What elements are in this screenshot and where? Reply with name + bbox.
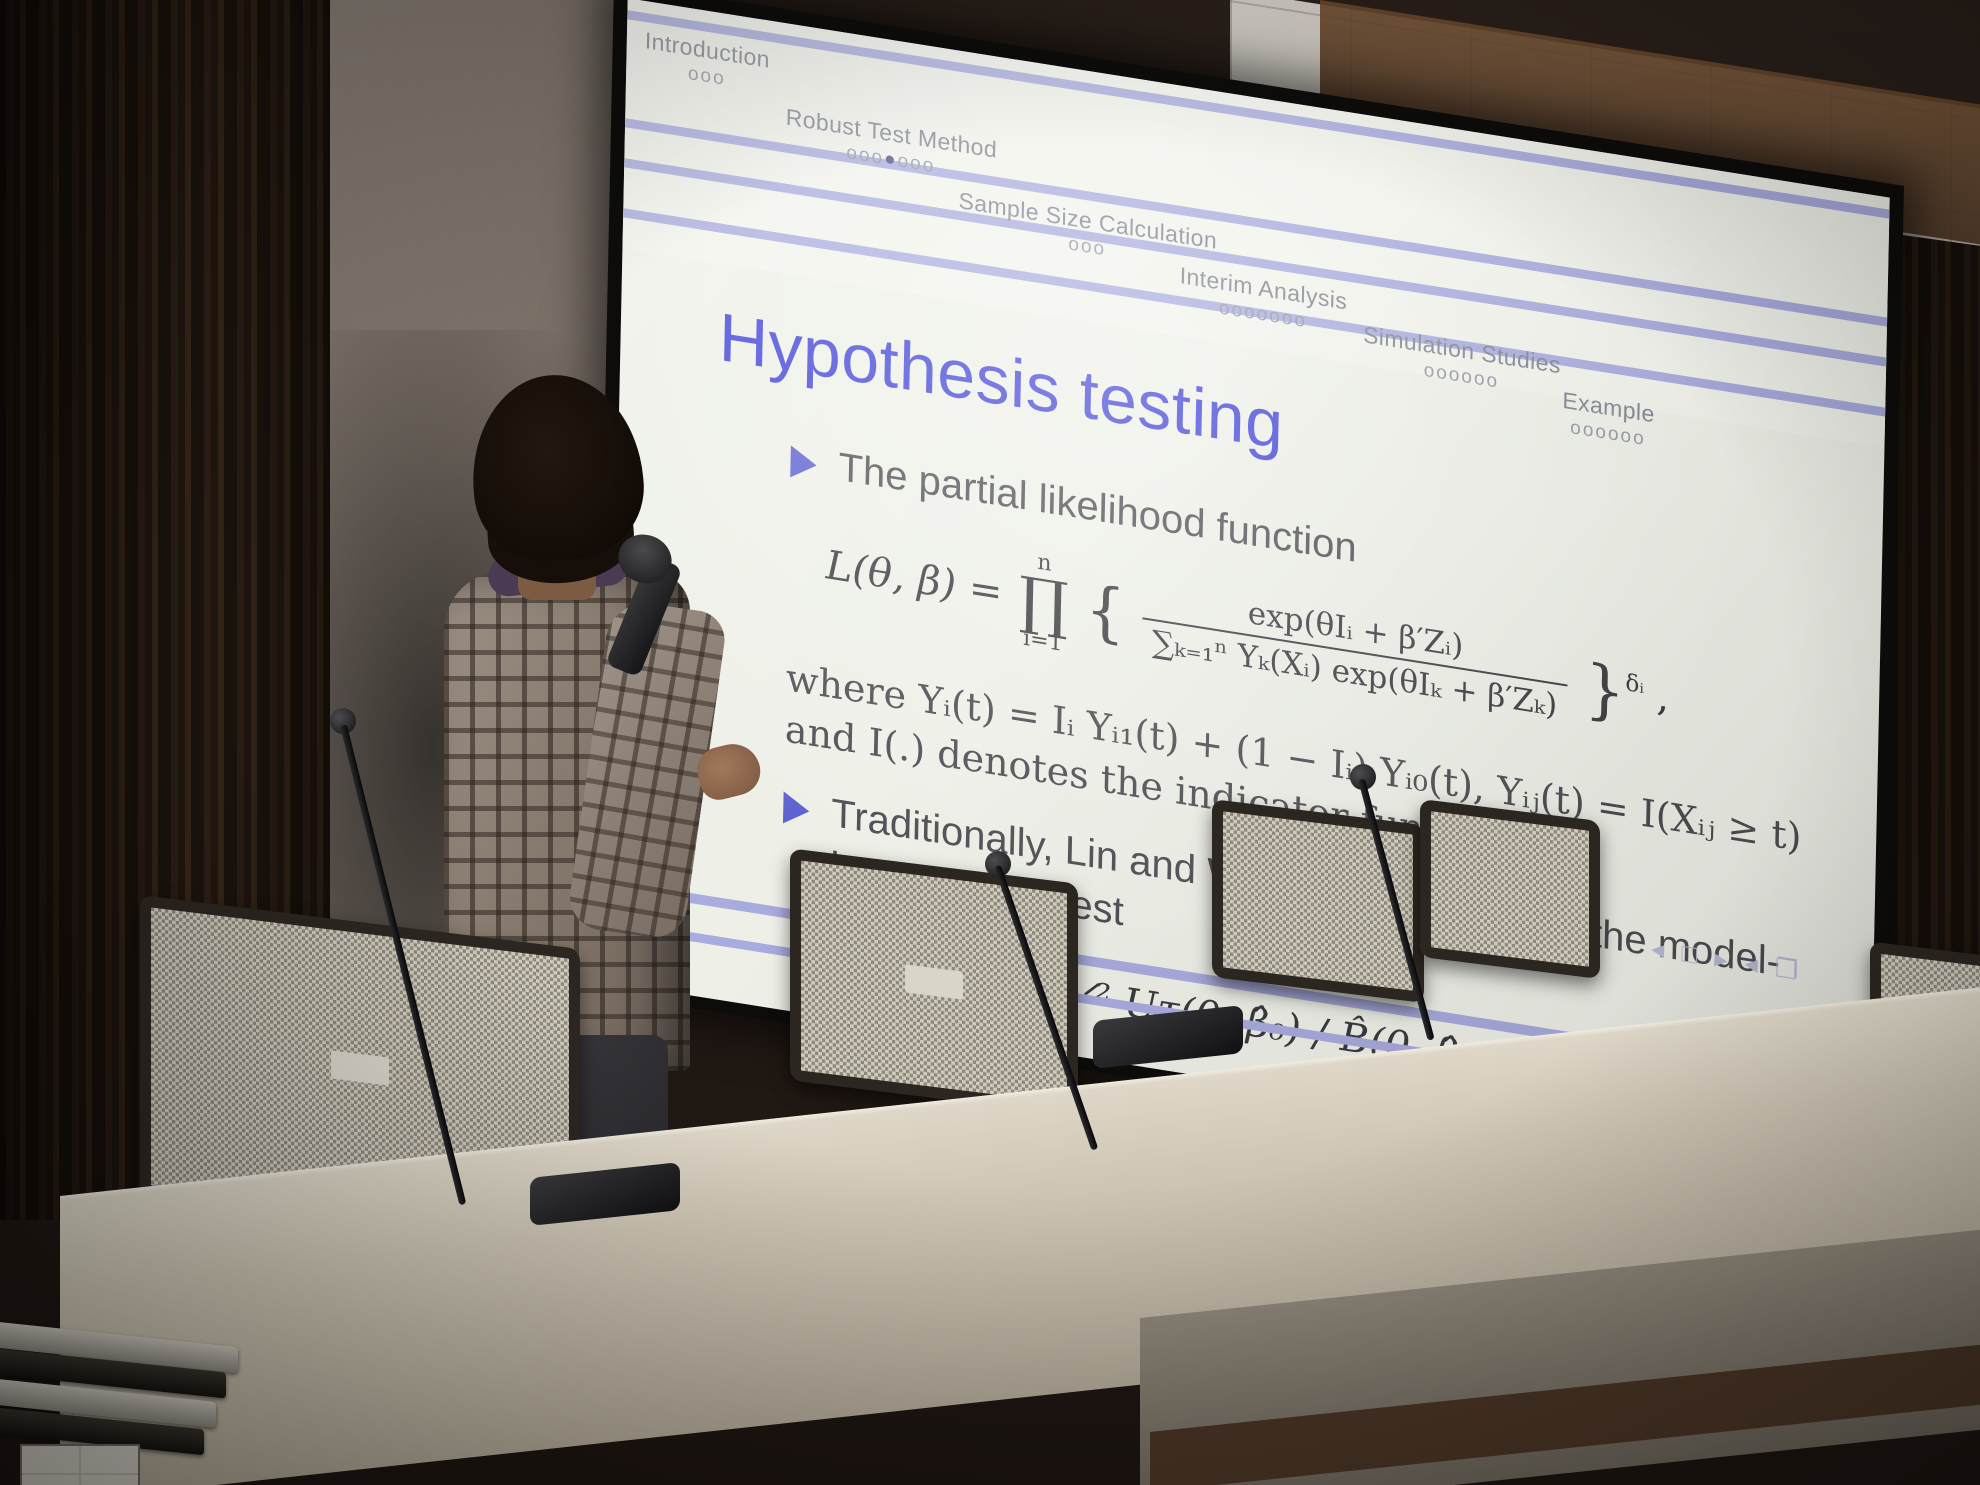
microphone-base (1093, 1005, 1243, 1069)
control-keypad[interactable] (20, 1444, 140, 1485)
keypad-key[interactable] (81, 1475, 138, 1485)
nav-item-interim-analysis[interactable]: Interim Analysis ooooooo (1179, 262, 1348, 339)
gooseneck-microphone (330, 700, 630, 1220)
chair-tag (905, 965, 963, 1000)
microphone-rod (340, 724, 466, 1205)
lecture-hall-photo: Introduction ooo Robust Test Method ooo●… (0, 0, 1980, 1485)
exponent-delta: δᵢ (1625, 669, 1644, 699)
triangle-bullet-icon (790, 445, 817, 481)
brace-open: { (1084, 572, 1126, 652)
microphone-rod (1358, 778, 1435, 1041)
product-glyph: ∏ (1018, 571, 1069, 635)
presenter-head (464, 368, 649, 567)
product-operator: n ∏ i=1 (1018, 549, 1069, 657)
equation-comma: , (1656, 673, 1670, 721)
nav-item-simulation-studies[interactable]: Simulation Studies oooooo (1362, 321, 1561, 403)
nav-item-robust-test-method[interactable]: Robust Test Method ooo●ooo (785, 103, 997, 187)
nav-item-sample-size-calculation[interactable]: Sample Size Calculation ooo (958, 187, 1218, 279)
keypad-key[interactable] (22, 1446, 79, 1473)
equation-lhs: L(θ, β) = (825, 542, 1003, 616)
gooseneck-microphone (1350, 760, 1610, 1060)
nav-item-introduction[interactable]: Introduction ooo (644, 27, 770, 98)
brace-close: } (1584, 651, 1626, 731)
stacked-chairs (0, 1334, 258, 1484)
product-lower-limit: i=1 (1018, 626, 1068, 656)
gooseneck-microphone (985, 845, 1285, 1175)
keypad-key[interactable] (81, 1446, 138, 1473)
microphone-rod (994, 865, 1098, 1151)
keypad-key[interactable] (22, 1475, 79, 1485)
fraction: exp(θIᵢ + β′Zᵢ) ∑ₖ₌₁ⁿ Yₖ(Xᵢ) exp(θIₖ + β… (1142, 578, 1569, 725)
